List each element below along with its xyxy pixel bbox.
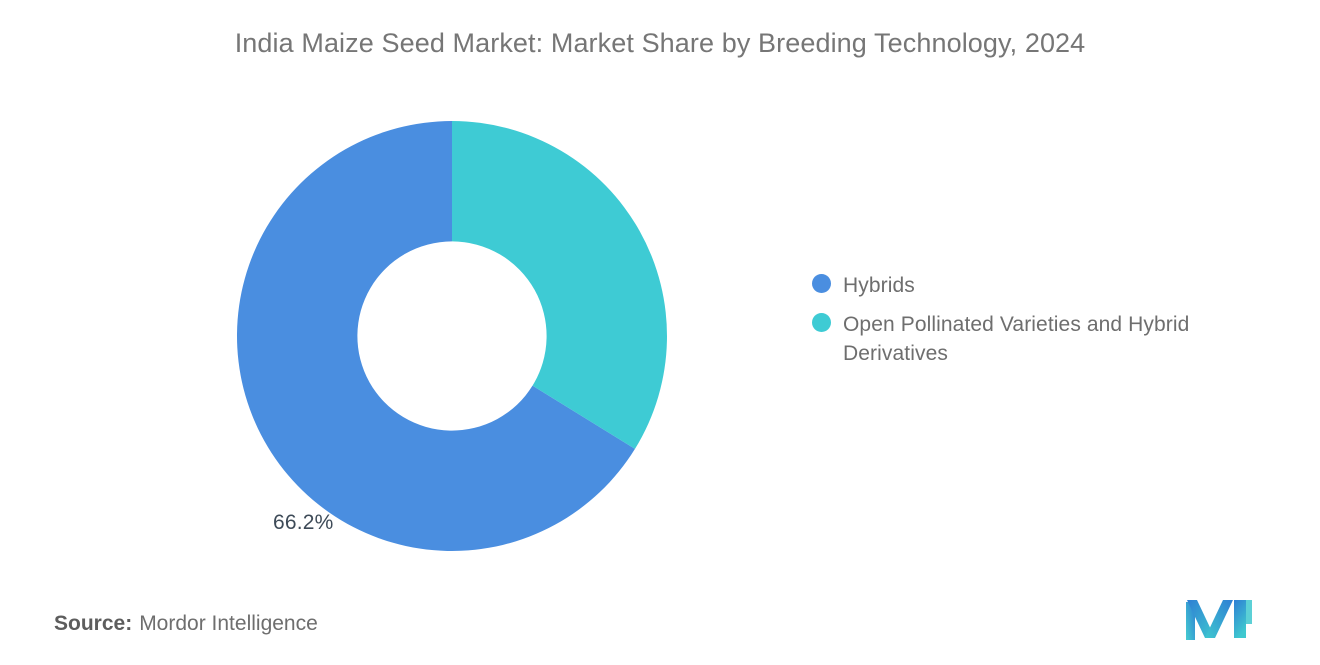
donut-chart: 66.2% — [237, 121, 667, 551]
source-value: Mordor Intelligence — [139, 612, 318, 635]
chart-legend: Hybrids Open Pollinated Varieties and Hy… — [812, 271, 1242, 378]
legend-swatch-hybrids — [812, 274, 831, 293]
slice-label-hybrids: 66.2% — [273, 511, 334, 535]
chart-title: India Maize Seed Market: Market Share by… — [0, 26, 1320, 61]
source-line: Source:Mordor Intelligence — [54, 612, 318, 636]
legend-item-hybrids[interactable]: Hybrids — [812, 271, 1242, 300]
legend-swatch-open-pollinated — [812, 313, 831, 332]
source-label: Source: — [54, 612, 132, 635]
legend-label-hybrids: Hybrids — [843, 271, 915, 300]
logo-svg — [1186, 598, 1252, 640]
legend-label-open-pollinated: Open Pollinated Varieties and Hybrid Der… — [843, 310, 1218, 368]
donut-slice-open-pollinated[interactable] — [452, 121, 667, 449]
mordor-intelligence-logo-icon — [1186, 598, 1252, 640]
chart-container: India Maize Seed Market: Market Share by… — [0, 0, 1320, 665]
legend-item-open-pollinated[interactable]: Open Pollinated Varieties and Hybrid Der… — [812, 310, 1242, 368]
donut-chart-svg — [237, 121, 667, 551]
